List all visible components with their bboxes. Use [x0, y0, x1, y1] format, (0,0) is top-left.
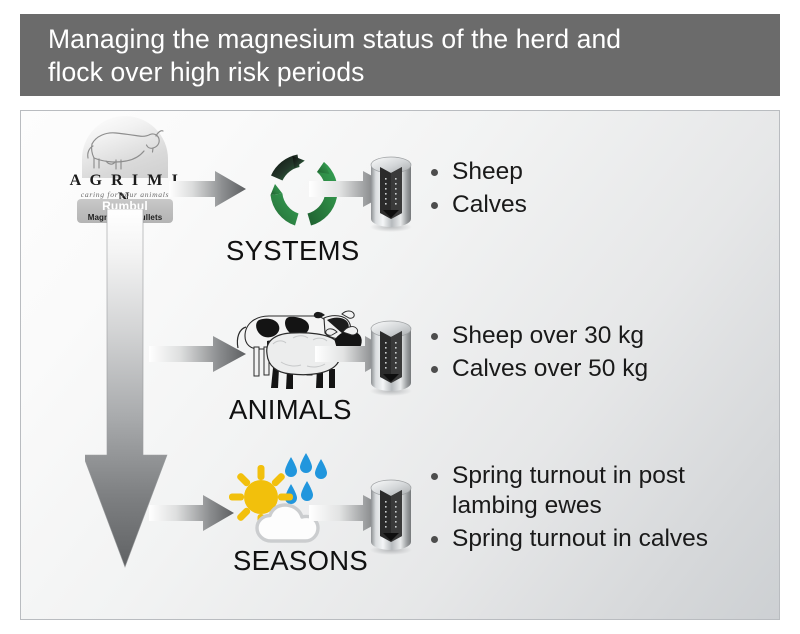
page-title: Managing the magnesium status of the her… — [48, 23, 758, 89]
stage-label-animals: ANIMALS — [229, 394, 352, 426]
list-item: Spring turnout in post lambing ewes — [427, 461, 747, 521]
stage-label-systems: SYSTEMS — [226, 235, 360, 267]
magnesium-bullet-icon — [367, 477, 415, 560]
bullet-list-systems: Sheep Calves — [427, 157, 707, 223]
logo-product-name: Rumbul — [77, 199, 173, 213]
logo-tagline: caring for your animals — [66, 190, 184, 199]
magnesium-bullet-icon — [367, 154, 415, 237]
stage-label-seasons: SEASONS — [233, 545, 368, 577]
cow-outline-icon — [82, 116, 168, 178]
logo-product-band: Rumbul Magnesium Bullets — [77, 199, 173, 223]
logo-product-subtitle: Magnesium Bullets — [77, 213, 173, 222]
list-item: Spring turnout in calves — [427, 524, 747, 554]
list-item: Calves over 50 kg — [427, 354, 727, 384]
list-item: Calves — [427, 190, 707, 220]
diagram-frame: A G R I M I N caring for your animals Ru… — [20, 110, 780, 620]
slide-canvas: Managing the magnesium status of the her… — [0, 0, 800, 634]
bullet-list-seasons: Spring turnout in post lambing ewes Spri… — [427, 461, 747, 557]
agrimin-logo: A G R I M I N caring for your animals Ru… — [66, 116, 184, 220]
list-item: Sheep — [427, 157, 707, 187]
list-item: Sheep over 30 kg — [427, 321, 727, 351]
bullet-list-animals: Sheep over 30 kg Calves over 50 kg — [427, 321, 727, 387]
slide-title-bar: Managing the magnesium status of the her… — [20, 14, 780, 96]
right-arrow-icon — [169, 169, 247, 214]
magnesium-bullet-icon — [367, 318, 415, 401]
